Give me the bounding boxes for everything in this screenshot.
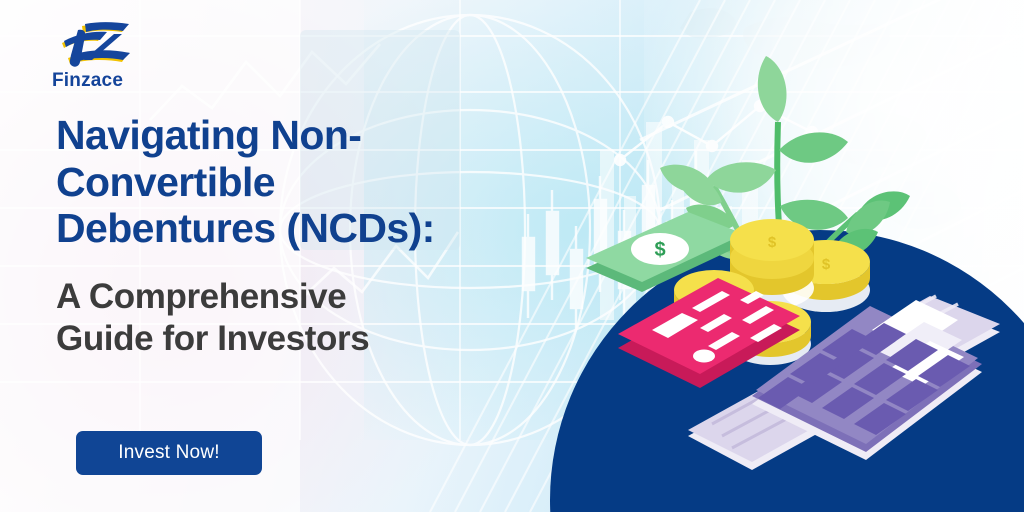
headline-line-2: Convertible <box>56 159 275 205</box>
brand-name: Finzace <box>52 71 182 90</box>
headline-line-1: Navigating Non- <box>56 112 361 158</box>
marketing-banner: $ $ $ $ <box>0 0 1024 512</box>
background-white-highlight <box>644 0 1024 360</box>
page-title: Navigating Non- Convertible Debentures (… <box>56 112 516 252</box>
invest-now-button[interactable]: Invest Now! <box>76 431 262 475</box>
subhead-line-2: Guide for Investors <box>56 319 369 358</box>
headline-line-3: Debentures (NCDs): <box>56 205 435 251</box>
fz-monogram-icon <box>52 22 134 70</box>
subhead-line-1: A Comprehensive <box>56 277 346 316</box>
brand-logo[interactable]: Finzace <box>52 22 182 90</box>
page-subtitle: A Comprehensive Guide for Investors <box>56 276 526 360</box>
banner-content: Finzace Navigating Non- Convertible Debe… <box>56 0 526 512</box>
